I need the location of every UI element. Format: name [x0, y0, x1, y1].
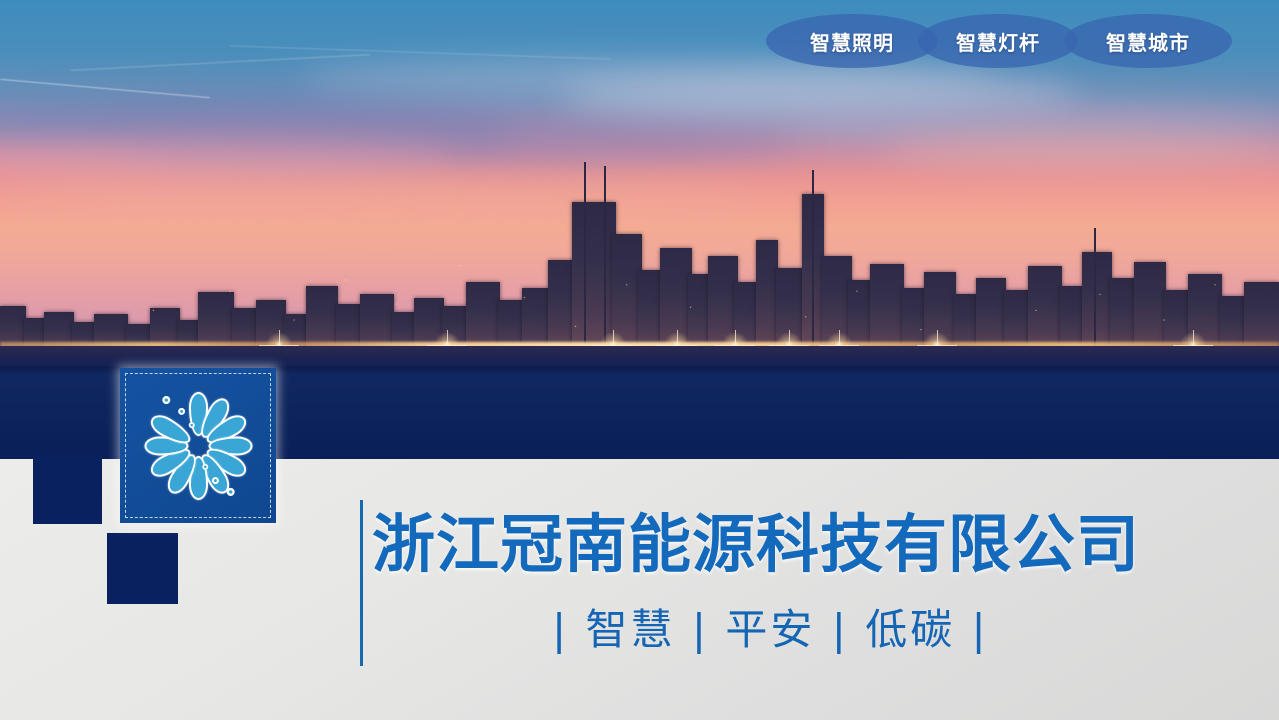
company-tagline: | 智慧 | 平安 | 低碳 | [552, 596, 989, 657]
tag-smart-light-pole[interactable]: 智慧灯杆 [918, 14, 1078, 68]
company-logo [120, 368, 276, 523]
presentation-slide: 智慧照明 智慧灯杆 智慧城市 浙江冠南能源科技有限公司 | 智慧 | 平安 | … [0, 0, 1279, 720]
tag-smart-city-label: 智慧城市 [1106, 27, 1190, 56]
decorative-square-top [33, 455, 102, 524]
tag-smart-lighting[interactable]: 智慧照明 [766, 14, 938, 68]
title-accent-rule [360, 500, 363, 666]
lake-water [0, 346, 1279, 368]
top-tag-group: 智慧照明 智慧灯杆 智慧城市 [766, 14, 1232, 68]
tag-smart-lighting-label: 智慧照明 [810, 27, 894, 56]
city-skyline-silhouette [0, 122, 1279, 352]
company-name-title: 浙江冠南能源科技有限公司 [372, 494, 1140, 585]
decorative-square-bottom [107, 533, 178, 604]
tag-smart-light-pole-label: 智慧灯杆 [956, 27, 1040, 56]
tag-smart-city[interactable]: 智慧城市 [1064, 14, 1232, 68]
